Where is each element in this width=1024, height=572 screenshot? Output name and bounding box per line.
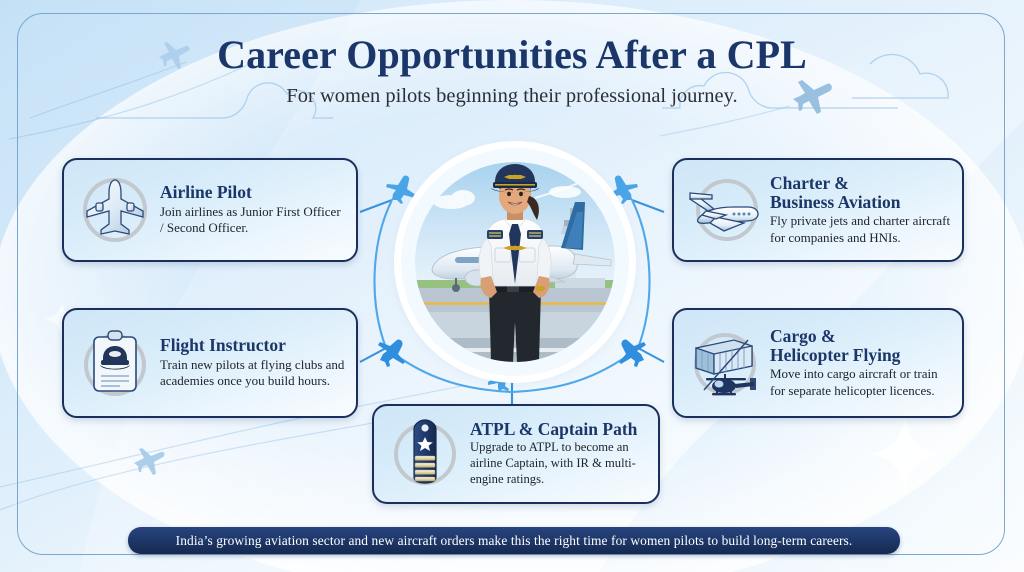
card-description: Upgrade to ATPL to become an airline Cap… <box>470 440 648 488</box>
decorative-plane-icon-2 <box>134 448 164 475</box>
page-title: Career Opportunities After a CPL <box>0 34 1024 76</box>
card-text: Flight Instructor Train new pilots at fl… <box>158 336 346 390</box>
center-hub <box>401 148 629 376</box>
footer-text: India’s growing aviation sector and new … <box>176 533 853 549</box>
card-airline-pilot[interactable]: Airline Pilot Join airlines as Junior Fi… <box>62 158 358 262</box>
card-title: Cargo & Helicopter Flying <box>770 327 952 365</box>
card-text: Charter & Business Aviation Fly private … <box>768 174 952 247</box>
footer-banner: India’s growing aviation sector and new … <box>128 527 900 554</box>
page-subtitle: For women pilots beginning their profess… <box>0 85 1024 108</box>
card-title: Flight Instructor <box>160 336 346 355</box>
card-text: Cargo & Helicopter Flying Move into carg… <box>768 327 952 400</box>
card-title: Airline Pilot <box>160 183 346 202</box>
cargo-container-helicopter-icon <box>682 320 768 406</box>
card-description: Join airlines as Junior First Officer / … <box>160 204 346 237</box>
infographic-poster: Career Opportunities After a CPL For wom… <box>0 0 1024 572</box>
header: Career Opportunities After a CPL For wom… <box>0 34 1024 108</box>
card-description: Move into cargo aircraft or train for se… <box>770 366 952 399</box>
card-title: ATPL & Captain Path <box>470 420 648 439</box>
card-atpl-captain-path[interactable]: ATPL & Captain Path Upgrade to ATPL to b… <box>372 404 660 504</box>
card-charter-business-aviation[interactable]: Charter & Business Aviation Fly private … <box>672 158 964 262</box>
pilot-illustration-art <box>415 162 615 362</box>
sparkle-icon <box>868 415 942 492</box>
card-description: Train new pilots at flying clubs and aca… <box>160 357 346 390</box>
pilot-illustration <box>415 162 615 362</box>
private-jet-icon <box>682 167 768 253</box>
card-title: Charter & Business Aviation <box>770 174 952 212</box>
card-description: Fly private jets and charter aircraft fo… <box>770 213 952 246</box>
card-flight-instructor[interactable]: Flight Instructor Train new pilots at fl… <box>62 308 358 418</box>
airplane-top-view-icon <box>72 167 158 253</box>
epaulette-rank-insignia-icon <box>382 411 468 497</box>
card-text: Airline Pilot Join airlines as Junior Fi… <box>158 183 346 237</box>
clipboard-pilot-cap-icon <box>72 320 158 406</box>
card-cargo-helicopter-flying[interactable]: Cargo & Helicopter Flying Move into carg… <box>672 308 964 418</box>
card-text: ATPL & Captain Path Upgrade to ATPL to b… <box>468 420 648 489</box>
